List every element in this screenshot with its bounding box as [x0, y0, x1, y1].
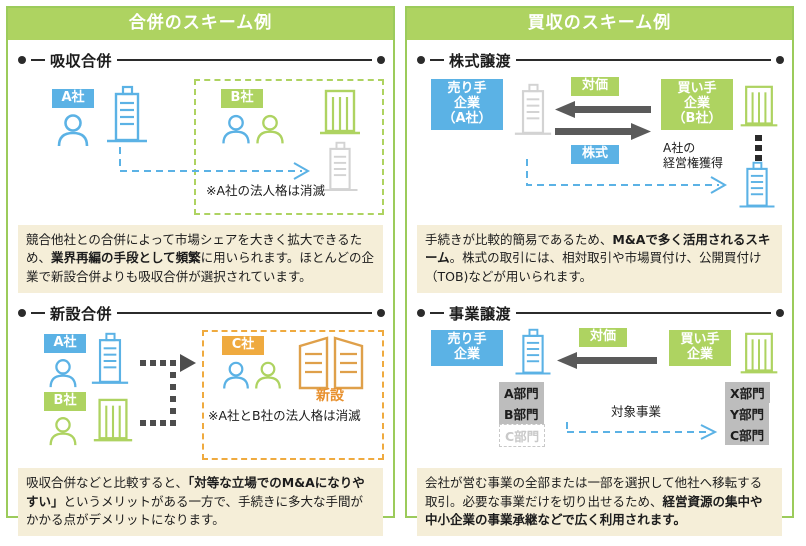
- heading-rule-right: [516, 59, 771, 61]
- solid-arrow-icon: [555, 101, 651, 119]
- dashed-arrow-icon: [112, 145, 322, 187]
- section-absorption-merger-heading: 吸収合併: [18, 50, 385, 71]
- panel-acquisition-title: 買収のスキーム例: [407, 8, 792, 40]
- comment-text-part: というメリットがある一方で、手続きに多大な手間がかかる点がデメリットになります。: [26, 494, 363, 528]
- building-pillars-icon: [90, 396, 136, 446]
- bullet-dot-end-icon: [377, 309, 385, 317]
- comment-text-part: 手続きが比較的簡易であるため、: [425, 232, 612, 247]
- section-absorption-merger: 吸収合併 A社: [16, 46, 385, 299]
- section-business-transfer: 事業譲渡 売り手 企業: [415, 299, 784, 542]
- dashed-arrow-icon: [565, 420, 725, 442]
- panel-acquisition-body: 株式譲渡 売り手 企業 （A社）: [407, 40, 792, 546]
- building-tall-icon: [511, 328, 555, 384]
- tag-buyer-company: 買い手 企業: [669, 330, 731, 366]
- heading-rule-right: [117, 312, 372, 314]
- building-pillars-icon: [316, 87, 364, 139]
- note-a-company-dissolution: ※A社の法人格は消滅: [206, 183, 325, 199]
- building-tall-icon: [735, 161, 779, 217]
- person-icon: [220, 360, 252, 390]
- heading-rule-left: [31, 59, 45, 61]
- absorption-merger-diagram: A社: [16, 73, 385, 223]
- section-title: 新設合併: [50, 303, 112, 324]
- bullet-dot-end-icon: [377, 56, 385, 64]
- building-tall-icon: [88, 332, 132, 390]
- tag-b-company: B社: [221, 89, 263, 108]
- person-icon: [46, 416, 80, 446]
- tag-buyer-company: 買い手 企業 （B社）: [661, 79, 733, 130]
- section-title: 吸収合併: [50, 50, 112, 71]
- heading-rule-left: [31, 312, 45, 314]
- comment-absorption-merger: 競合他社との合併によって市場シェアを大きく拡大できるため、業界再編の手段として頻…: [18, 225, 383, 293]
- note-ab-dissolution: ※A社とB社の法人格は消滅: [208, 408, 376, 424]
- dept-chip-seller-a: A部門: [499, 382, 544, 403]
- dept-chip-buyer-c: C部門: [725, 424, 769, 445]
- section-consolidation-merger-heading: 新設合併: [18, 303, 385, 324]
- dept-chip-seller-b: B部門: [499, 403, 544, 424]
- panel-merger-title: 合併のスキーム例: [8, 8, 393, 40]
- bullet-dot-end-icon: [776, 56, 784, 64]
- comment-bold-part: 業界再編の手段として: [51, 250, 176, 265]
- tag-seller-company: 売り手 企業 （A社）: [431, 79, 503, 130]
- solid-arrow-icon: [555, 123, 651, 141]
- dept-chip-seller-c: C部門: [499, 424, 545, 447]
- tag-a-company: A社: [52, 89, 94, 108]
- tag-a-company: A社: [44, 334, 86, 353]
- tag-c-company: C社: [222, 336, 264, 355]
- tag-seller-company: 売り手 企業: [431, 330, 503, 366]
- building-pillars-icon: [737, 83, 781, 131]
- comment-share-transfer: 手続きが比較的簡易であるため、M&Aで多く活用されるスキーム。株式の取引には、相…: [417, 225, 782, 293]
- consolidation-merger-diagram: A社 B社: [16, 326, 385, 466]
- business-transfer-diagram: 売り手 企業 A部門 B部門 C部門: [415, 326, 784, 466]
- comment-text-part: 。株式の取引には、相対取引や市場買付け、公開買付け（TOB)などが用いられます。: [425, 250, 762, 284]
- section-consolidation-merger: 新設合併 A社: [16, 299, 385, 542]
- building-tall-icon: [511, 83, 555, 141]
- building-tall-icon: [319, 141, 361, 197]
- section-business-transfer-heading: 事業譲渡: [417, 303, 784, 324]
- section-title: 株式譲渡: [449, 50, 511, 71]
- label-newly-established: 新設: [316, 388, 344, 406]
- comment-text-part: 吸収合併などと比較すると、: [26, 475, 188, 490]
- comment-consolidation-merger: 吸収合併などと比較すると、「対等な立場でのM&Aになりやすい」というメリットがあ…: [18, 468, 383, 536]
- person-icon: [253, 113, 287, 145]
- panel-merger: 合併のスキーム例 吸収合併 A社: [6, 6, 395, 518]
- comment-business-transfer: 会社が営む事業の全部または一部を選択して他社へ移転する取引。必要な事業だけを切り…: [417, 468, 782, 536]
- person-icon: [219, 113, 253, 145]
- heading-rule-left: [430, 59, 444, 61]
- person-icon: [54, 113, 92, 147]
- bullet-dot-icon: [417, 56, 425, 64]
- dotted-square-arrow-icon: [138, 352, 204, 442]
- heading-rule-right: [516, 312, 771, 314]
- panel-acquisition: 買収のスキーム例 株式譲渡 売り手 企業 （A社）: [405, 6, 794, 518]
- building-pillars-icon: [737, 330, 781, 378]
- bullet-dot-icon: [417, 309, 425, 317]
- bullet-dot-icon: [18, 56, 26, 64]
- person-icon: [46, 358, 80, 388]
- heading-rule-right: [117, 59, 372, 61]
- label-target-business: 対象事業: [611, 404, 661, 420]
- dept-chip-buyer-y: Y部門: [725, 403, 769, 424]
- tag-b-company: B社: [44, 392, 86, 411]
- diagram-board: 合併のスキーム例 吸収合併 A社: [0, 0, 806, 524]
- solid-arrow-icon: [557, 352, 657, 370]
- panel-merger-body: 吸収合併 A社: [8, 40, 393, 546]
- dashed-arrow-icon: [519, 157, 739, 199]
- comment-bold-part: 頻繁: [176, 250, 201, 265]
- person-icon: [252, 360, 284, 390]
- share-transfer-diagram: 売り手 企業 （A社） 対価: [415, 73, 784, 223]
- section-share-transfer: 株式譲渡 売り手 企業 （A社）: [415, 46, 784, 299]
- heading-rule-left: [430, 312, 444, 314]
- section-title: 事業譲渡: [449, 303, 511, 324]
- section-share-transfer-heading: 株式譲渡: [417, 50, 784, 71]
- building-tall-icon: [104, 85, 150, 149]
- label-consideration: 対価: [579, 328, 627, 347]
- bullet-dot-icon: [18, 309, 26, 317]
- building-twin-icon: [294, 332, 368, 394]
- bullet-dot-end-icon: [776, 309, 784, 317]
- label-consideration: 対価: [571, 77, 619, 96]
- dept-chip-buyer-x: X部門: [725, 382, 770, 403]
